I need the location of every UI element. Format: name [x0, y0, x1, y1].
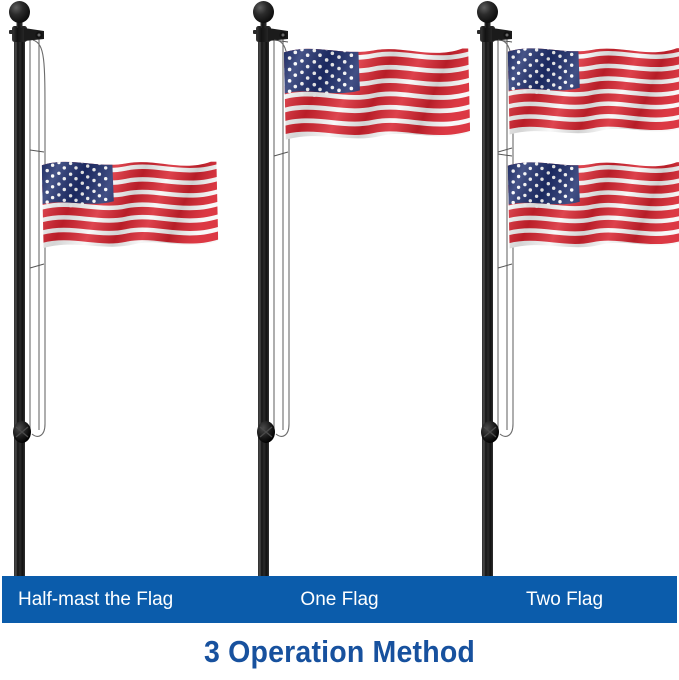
caption-two-flag: Two Flag	[227, 576, 679, 623]
ball-finial-icon	[477, 1, 498, 23]
flagpole-one-flag-graphic	[244, 0, 484, 576]
pole-shaft	[14, 26, 25, 576]
page-title: 3 Operation Method	[27, 634, 652, 670]
flagpole-two-flag	[468, 0, 679, 576]
pole-cleat-icon	[257, 421, 275, 443]
flag-top	[274, 40, 472, 156]
pole-cleat-icon	[13, 421, 31, 443]
pole-cleat-icon	[481, 421, 499, 443]
flagpole-half-mast	[0, 0, 240, 576]
pole-shaft	[482, 26, 493, 576]
ball-finial-icon	[253, 1, 274, 23]
flag-lower	[498, 154, 679, 268]
flagpole-half-mast-graphic	[0, 0, 240, 576]
pole-shaft	[258, 26, 269, 576]
halyard-rope	[30, 36, 45, 436]
flagpole-one-flag	[244, 0, 484, 576]
ball-finial-icon	[9, 1, 30, 23]
flagpole-two-flag-graphic	[468, 0, 679, 576]
flag-upper	[498, 40, 679, 152]
flag-half-mast	[30, 150, 220, 268]
product-image-canvas: Half-mast the Flag One Flag Two Flag 3 O…	[0, 0, 679, 680]
caption-banner: Half-mast the Flag One Flag Two Flag	[2, 576, 677, 623]
